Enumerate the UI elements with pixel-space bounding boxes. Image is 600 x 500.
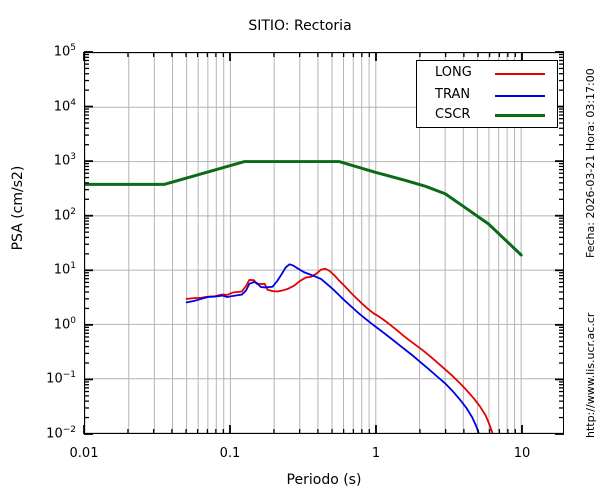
legend-item-long: LONG <box>417 63 557 85</box>
y-tick-label: 105 <box>8 43 76 59</box>
y-axis-title: PSA (cm/s2) <box>10 108 26 308</box>
legend-swatch-cscr <box>495 114 545 117</box>
date-time-annotation: Fecha: 2026-03-21 Hora: 03:17:00 <box>584 68 597 258</box>
y-tick-label: 10−1 <box>8 370 76 386</box>
legend-item-tran: TRAN <box>417 85 557 107</box>
y-tick-label: 100 <box>8 316 76 332</box>
x-tick-label: 10 <box>482 446 562 461</box>
legend-label-long: LONG <box>435 65 472 80</box>
x-tick-label: 1 <box>336 446 416 461</box>
page-title: SITIO: Rectoria <box>0 18 600 34</box>
legend-swatch-tran <box>495 95 545 97</box>
x-axis-title: Periodo (s) <box>84 472 564 488</box>
url-annotation: http://www.lis.ucr.ac.cr <box>584 313 597 438</box>
chart-page: SITIO: Rectoria 10510410310210110010−110… <box>0 0 600 500</box>
legend-label-cscr: CSCR <box>435 107 470 122</box>
x-tick-label: 0.01 <box>44 446 124 461</box>
legend-label-tran: TRAN <box>435 87 470 102</box>
legend: LONG TRAN CSCR <box>416 60 558 128</box>
y-tick-label: 10−2 <box>8 425 76 441</box>
legend-item-cscr: CSCR <box>417 105 557 127</box>
x-tick-label: 0.1 <box>190 446 270 461</box>
legend-swatch-long <box>495 73 545 75</box>
